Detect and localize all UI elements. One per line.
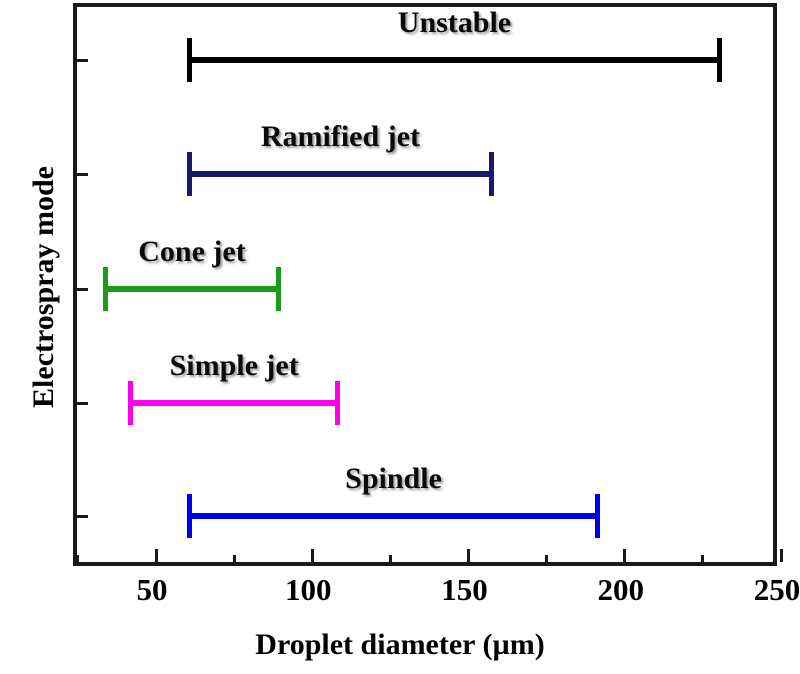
range-line-ramified-jet (187, 171, 493, 177)
y-tick-simple-jet (73, 402, 88, 405)
x-tick-label-200: 200 (598, 572, 645, 608)
range-bar-cone-jet: Cone jet (103, 267, 281, 311)
range-bar-ramified-jet: Ramified jet (187, 152, 493, 196)
x-tick-200 (623, 549, 626, 562)
x-minor-tick-175 (545, 555, 548, 562)
range-cap-left-ramified-jet (187, 152, 192, 196)
series-label-spindle: Spindle (345, 462, 442, 496)
x-tick-250 (780, 549, 783, 562)
range-cap-right-unstable (717, 38, 722, 82)
y-tick-ramified-jet (73, 173, 88, 176)
x-tick-100 (311, 549, 314, 562)
electrospray-mode-range-chart: UnstableRamified jetCone jetSimple jetSp… (0, 0, 800, 674)
range-cap-right-ramified-jet (489, 152, 494, 196)
x-minor-tick-75 (233, 555, 236, 562)
plot-area: UnstableRamified jetCone jetSimple jetSp… (73, 3, 777, 566)
x-tick-label-150: 150 (441, 572, 488, 608)
x-tick-label-50: 50 (137, 572, 168, 608)
x-tick-50 (155, 549, 158, 562)
y-tick-spindle (73, 515, 88, 518)
y-axis-title: Electrospray mode (27, 77, 61, 497)
x-tick-150 (467, 549, 470, 562)
range-cap-left-cone-jet (103, 267, 108, 311)
series-label-simple-jet: Simple jet (170, 349, 299, 383)
range-line-cone-jet (103, 286, 281, 292)
x-minor-tick-25 (76, 555, 79, 562)
y-tick-cone-jet (73, 288, 88, 291)
x-minor-tick-125 (389, 555, 392, 562)
x-axis-title: Droplet diameter (µm) (0, 628, 800, 662)
range-cap-left-spindle (187, 494, 192, 538)
range-cap-right-cone-jet (276, 267, 281, 311)
range-line-spindle (187, 513, 599, 519)
series-label-cone-jet: Cone jet (138, 235, 245, 269)
range-bar-unstable: Unstable (187, 38, 721, 82)
x-minor-tick-225 (701, 555, 704, 562)
range-bar-simple-jet: Simple jet (128, 381, 340, 425)
range-cap-right-spindle (595, 494, 600, 538)
range-cap-left-unstable (187, 38, 192, 82)
range-line-unstable (187, 57, 721, 63)
series-label-unstable: Unstable (398, 6, 511, 40)
range-bar-spindle: Spindle (187, 494, 599, 538)
range-line-simple-jet (128, 400, 340, 406)
range-cap-left-simple-jet (128, 381, 133, 425)
series-label-ramified-jet: Ramified jet (261, 120, 420, 154)
x-tick-label-100: 100 (285, 572, 332, 608)
y-tick-unstable (73, 59, 88, 62)
x-tick-label-250: 250 (754, 572, 800, 608)
range-cap-right-simple-jet (335, 381, 340, 425)
